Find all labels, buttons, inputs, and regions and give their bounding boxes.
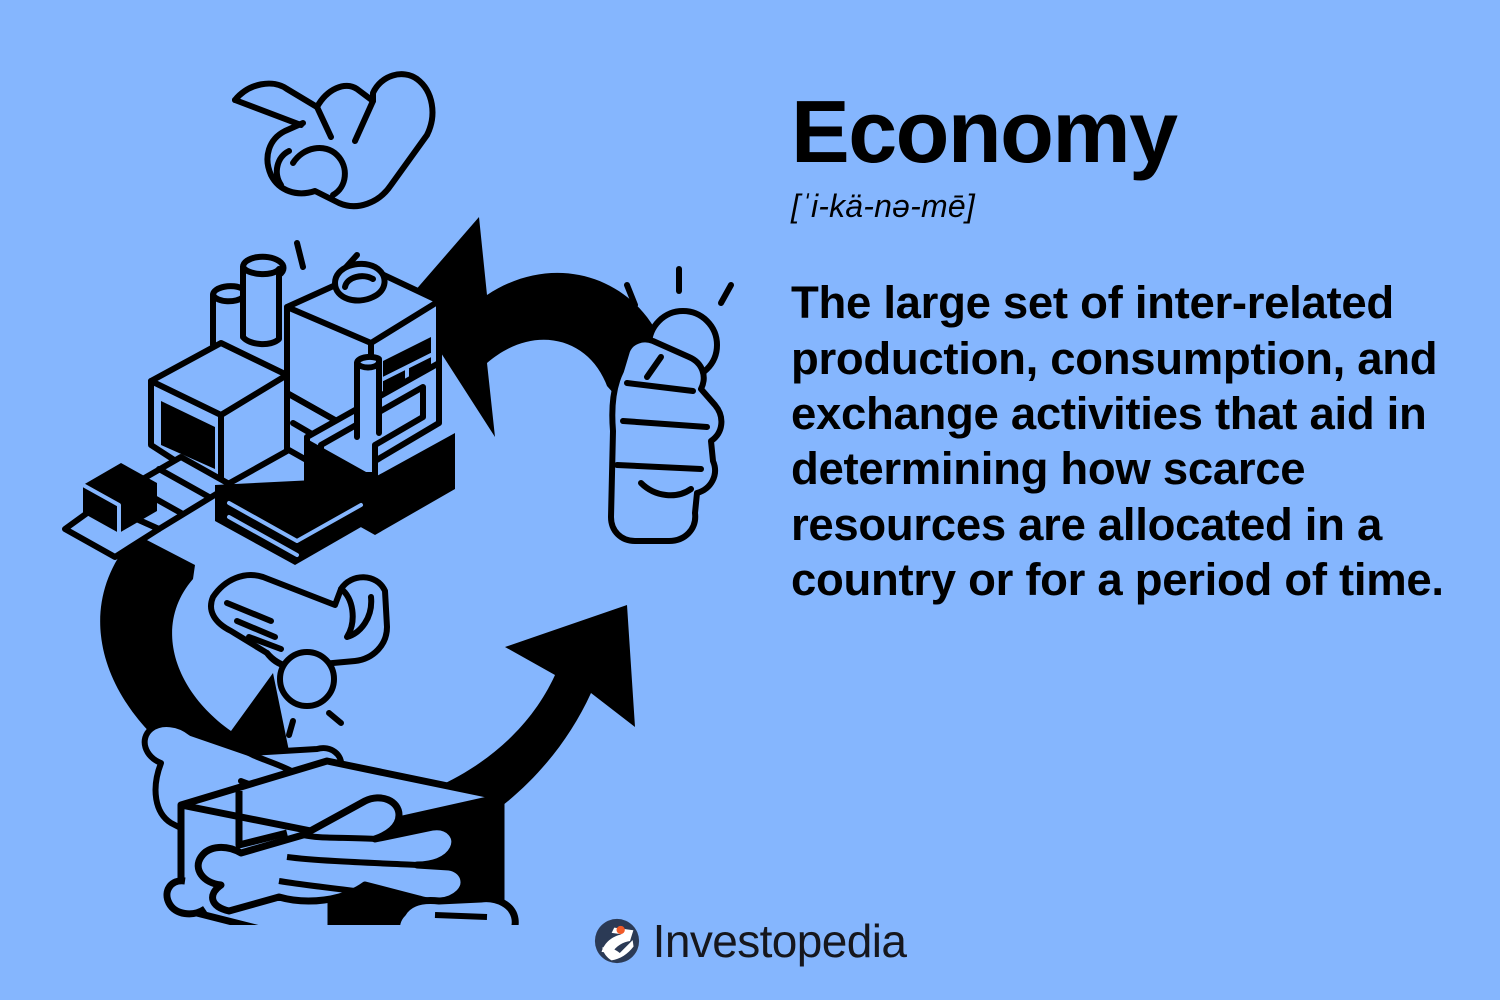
pronunciation-text: [ˈi-kä-nə-mē] bbox=[791, 188, 1481, 225]
page-title: Economy bbox=[791, 90, 1481, 174]
brand-logo: Investopedia bbox=[0, 918, 1500, 964]
definition-text: The large set of inter-related productio… bbox=[791, 275, 1471, 607]
investopedia-logo-icon bbox=[594, 918, 640, 964]
economy-cycle-illustration bbox=[35, 45, 795, 925]
infographic-canvas: Economy [ˈi-kä-nə-mē] The large set of i… bbox=[0, 0, 1500, 1000]
brand-wordmark: Investopedia bbox=[653, 918, 907, 964]
definition-panel: Economy [ˈi-kä-nə-mē] The large set of i… bbox=[791, 90, 1481, 653]
factory-machine-icon bbox=[65, 74, 455, 565]
